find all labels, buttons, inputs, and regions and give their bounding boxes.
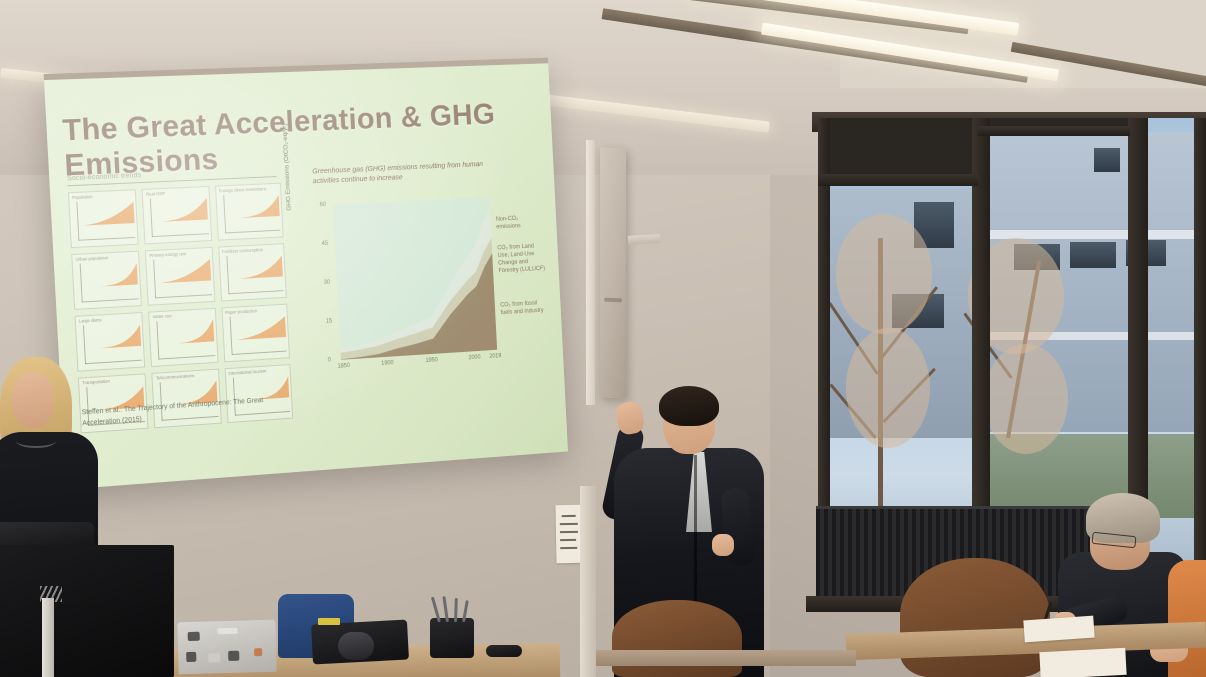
window-transom [818, 174, 978, 186]
presenter-jacket-zip [694, 455, 697, 605]
mini-chart-label: Water use [152, 313, 172, 320]
mini-chart-label: Urban population [75, 255, 108, 262]
mini-chart: Paper production [221, 304, 290, 363]
wall-edge [586, 140, 595, 405]
mini-chart-curve [229, 315, 286, 341]
window-transom [978, 126, 1130, 136]
y-tick: 0 [328, 358, 331, 364]
speaker-grille [604, 298, 622, 303]
notice-line [560, 539, 576, 541]
mini-chart: Fertilizer consumption [218, 243, 287, 301]
mini-chart-x-axis [152, 233, 208, 237]
mini-chart-label: Population [72, 194, 93, 200]
legend-item-fossil: CO₂ from fossil fuels and industry [500, 299, 547, 317]
mini-chart-curve [153, 258, 211, 284]
assistant-collar [16, 434, 56, 448]
laptop-sticker [188, 632, 200, 641]
mini-chart-label: Real GDP [146, 191, 165, 197]
x-tick: 2019 [489, 353, 501, 359]
mini-chart-x-axis [228, 290, 284, 294]
laptop-sticker [228, 651, 239, 661]
notebook-page [1039, 648, 1126, 677]
camera-lens [338, 632, 374, 660]
tree-foliage [846, 328, 930, 448]
connector-hub [430, 618, 474, 658]
assistant-face [12, 372, 54, 428]
lecture-room-scene: The Great Acceleration & GHG Emissions S… [0, 0, 1206, 677]
mini-chart: Water use [148, 308, 218, 367]
legend-item-lulucf: CO₂ from Land Use, Land-Use Change and F… [497, 242, 545, 275]
mini-chart: Primary energy use [145, 247, 215, 306]
mini-chart: Foreign direct investment [215, 183, 284, 241]
door-frame [580, 486, 596, 677]
tree-foliage [836, 214, 932, 334]
mini-chart-label: Transportation [82, 379, 110, 386]
notice-line [560, 531, 578, 533]
tree-foliage [984, 344, 1068, 454]
monitor [0, 545, 174, 677]
remote-control [486, 645, 522, 657]
mini-chart-curve [83, 323, 141, 350]
camera-label [318, 618, 340, 625]
facade-window [1094, 148, 1120, 172]
socio-economic-panel: Socio-economic trends PopulationReal GDP… [67, 166, 293, 424]
mini-chart-curve [80, 262, 138, 288]
notice-line [562, 515, 576, 517]
ghg-chart-panel: Greenhouse gas (GHG) emissions resulting… [290, 161, 549, 415]
mini-chart-label: Fertilizer consumption [222, 247, 263, 255]
mini-chart-x-axis [225, 230, 281, 234]
laptop-sticker [254, 648, 262, 656]
chart-plot-area [333, 197, 497, 360]
x-tick: 1900 [381, 360, 394, 367]
notice-line [560, 547, 577, 549]
laptop-sticker [186, 652, 196, 662]
mini-chart-curve [157, 319, 215, 345]
audience-member-hair [900, 558, 1050, 677]
mini-chart-x-axis [231, 351, 287, 355]
mini-chart-curve [76, 200, 134, 226]
presenter-hair [659, 386, 719, 426]
mini-chart-label: Primary energy use [149, 251, 186, 258]
x-tick: 1950 [425, 357, 438, 364]
laptop-sticker [208, 653, 220, 662]
mini-chart-label: Foreign direct investment [219, 186, 266, 194]
y-tick: 60 [320, 202, 327, 208]
mini-chart-label: International tourism [228, 369, 266, 377]
laptop-sticker [218, 628, 238, 635]
mini-chart-label: Paper production [225, 308, 257, 315]
ghg-area-chart [333, 197, 497, 360]
legend-item-non-co2: Non-CO₂ emissions [496, 214, 544, 232]
mini-chart: Real GDP [142, 186, 212, 244]
wall-notice [555, 505, 582, 563]
mini-chart-x-axis [82, 298, 139, 302]
facade-window [1070, 242, 1116, 268]
mini-chart-x-axis [155, 294, 211, 298]
x-tick: 2000 [468, 355, 480, 362]
mini-chart: Urban population [71, 251, 142, 310]
mini-chart: Large dams [75, 312, 146, 372]
y-tick: 15 [326, 319, 333, 325]
monitor-stand [42, 598, 54, 677]
mini-chart-x-axis [78, 237, 135, 241]
wall-bracket [628, 234, 660, 245]
ceiling-light [545, 94, 770, 132]
mini-chart-x-axis [159, 355, 215, 360]
mini-chart-label: Telecommunications [156, 373, 195, 381]
mini-chart-curve [226, 254, 283, 280]
mini-chart-x-axis [85, 360, 142, 365]
wall-speaker [600, 147, 626, 398]
presenter-lower-hand [712, 534, 734, 556]
window-mullion [1194, 118, 1206, 610]
baseboard [596, 650, 856, 666]
notice-line [560, 523, 578, 525]
mini-chart-label: Large dams [79, 317, 102, 324]
laptop [177, 620, 276, 675]
slide-surface: The Great Acceleration & GHG Emissions S… [44, 63, 568, 489]
y-tick: 30 [324, 280, 331, 286]
x-tick: 1850 [337, 363, 350, 370]
projection-screen: The Great Acceleration & GHG Emissions S… [44, 63, 568, 489]
mini-chart: Population [68, 189, 139, 248]
y-tick: 45 [322, 241, 329, 247]
mini-chart-curve [150, 197, 208, 223]
mini-chart-curve [223, 194, 280, 219]
